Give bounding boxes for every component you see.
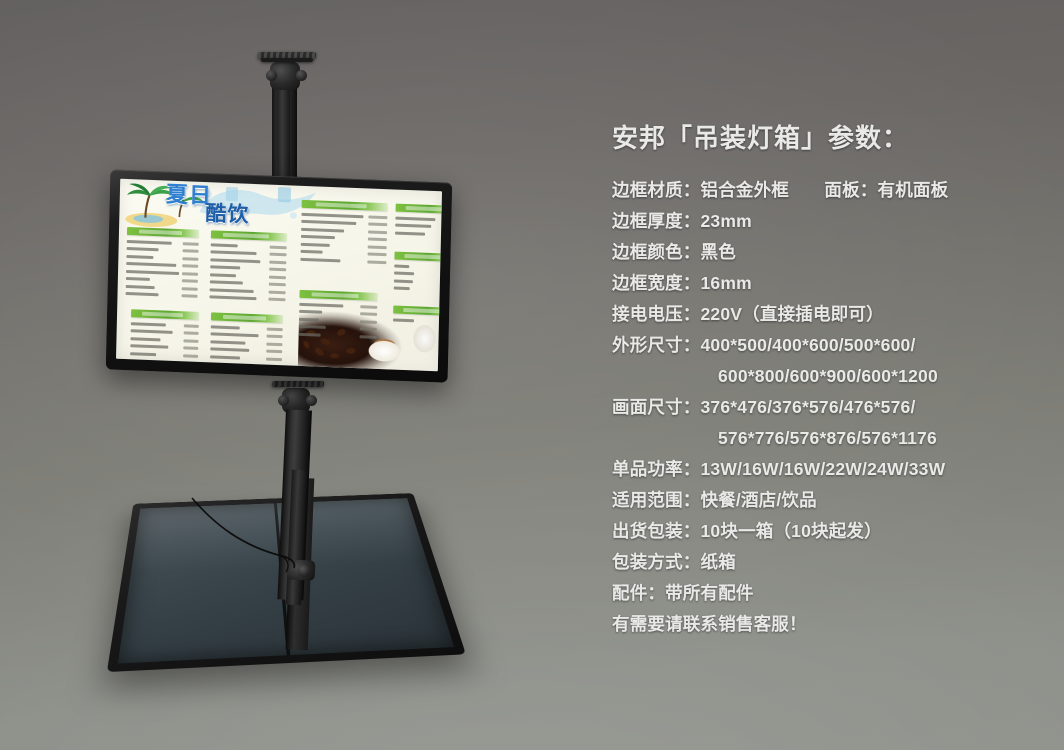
joint-knob-left <box>266 70 277 81</box>
menu-section <box>300 200 387 267</box>
section-header-bar <box>127 227 199 238</box>
section-header-bar <box>131 309 199 320</box>
section-rows <box>209 241 286 303</box>
spec-line: 边框厚度：23mm <box>612 206 1042 237</box>
section-rows <box>299 301 378 341</box>
section-rows <box>300 211 387 266</box>
menu-section <box>209 230 287 304</box>
section-rows <box>394 263 442 294</box>
spec-line: 配件：带所有配件 <box>612 578 1042 609</box>
spec-line: 出货包装：10块一箱（10块起发） <box>612 516 1042 547</box>
section-header-bar <box>396 204 442 214</box>
spec-line: 外形尺寸：400*500/400*600/500*600/ <box>612 330 1042 361</box>
section-rows <box>395 215 442 239</box>
joint-knob-lower-left <box>278 395 289 406</box>
menu-section <box>125 227 199 301</box>
spec-line: 包装方式：纸箱 <box>612 547 1042 578</box>
product-spec-image: 夏日 酷饮 <box>0 0 1064 750</box>
menu-panel-face: 夏日 酷饮 <box>116 179 442 372</box>
section-rows <box>210 323 283 362</box>
spec-line: 边框颜色：黑色 <box>612 237 1042 268</box>
section-header-bar <box>393 306 442 316</box>
illuminated-menu-lightbox: 夏日 酷饮 <box>106 169 452 382</box>
spec-line: 600*800/600*900/600*1200 <box>612 361 1042 392</box>
menu-section <box>393 306 442 327</box>
spec-line: 576*776/576*876/576*1176 <box>612 423 1042 454</box>
spec-line-list: 边框材质：铝合金外框 面板：有机面板 边框厚度：23mm 边框颜色：黑色 边框宽… <box>612 175 1042 640</box>
spec-line: 边框宽度：16mm <box>612 268 1042 299</box>
section-rows <box>130 320 199 359</box>
spec-line: 有需要请联系销售客服！ <box>612 609 1042 640</box>
menu-section <box>210 312 283 363</box>
spec-line: 单品功率：13W/16W/16W/22W/24W/33W <box>612 454 1042 485</box>
section-header-bar <box>211 312 283 323</box>
section-header-bar <box>299 290 377 301</box>
section-rows <box>393 317 442 326</box>
menu-section <box>395 204 442 240</box>
spec-line: 画面尺寸：376*476/376*576/476*576/ <box>612 392 1042 423</box>
menu-hero-line2: 酷饮 <box>205 203 249 226</box>
spec-line: 适用范围：快餐/酒店/饮品 <box>612 485 1042 516</box>
menu-section <box>130 309 199 360</box>
spec-line: 边框材质：铝合金外框 面板：有机面板 <box>612 175 1042 206</box>
section-header-bar <box>211 230 287 241</box>
section-header-bar <box>302 200 388 211</box>
lightbox-mount-plate <box>272 381 325 387</box>
page-title: 安邦「吊装灯箱」参数： <box>612 124 1042 153</box>
section-header-bar <box>394 252 442 262</box>
menu-section <box>299 290 378 341</box>
spec-panel: 安邦「吊装灯箱」参数： 边框材质：铝合金外框 面板：有机面板 边框厚度：23mm… <box>612 124 1042 640</box>
power-cable <box>190 494 320 584</box>
menu-section <box>394 252 442 295</box>
joint-knob-lower-right <box>306 395 317 406</box>
spec-line: 接电电压：220V（直接插电即可） <box>612 299 1042 330</box>
section-rows <box>125 238 198 300</box>
joint-knob-right <box>296 70 307 81</box>
ceiling-mount-plate-shadow <box>261 58 313 62</box>
drop-pole-inner-tube <box>277 86 290 186</box>
